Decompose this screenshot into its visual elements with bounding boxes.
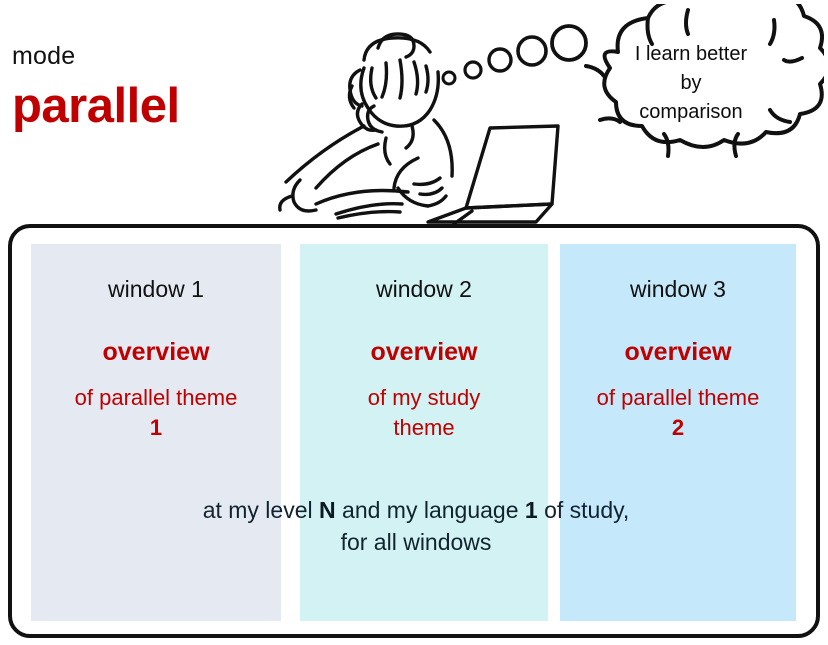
window-panel-3[interactable]: window 3 overview of parallel theme 2 [560, 244, 796, 621]
mode-value: parallel [12, 82, 180, 131]
thought-bubble-line-3: comparison [596, 98, 786, 127]
window-1-title: window 1 [31, 276, 281, 302]
windows-frame: window 1 overview of parallel theme 1 wi… [8, 224, 820, 638]
window-2-desc-prefix: of my study [368, 385, 480, 410]
window-1-desc-prefix: of parallel theme [75, 385, 238, 410]
window-2-title: window 2 [300, 276, 548, 302]
window-3-overview-desc: of parallel theme 2 [560, 383, 796, 442]
window-3-overview-label: overview [560, 338, 796, 367]
thought-bubble-line-1: I learn better [596, 40, 786, 69]
window-1-overview-label: overview [31, 338, 281, 367]
window-panel-1[interactable]: window 1 overview of parallel theme 1 [31, 244, 281, 621]
window-3-title: window 3 [560, 276, 796, 302]
window-1-overview-desc: of parallel theme 1 [31, 383, 281, 442]
window-3-desc-number: 2 [672, 415, 684, 440]
window-2-desc-number: theme [393, 415, 454, 440]
thought-bubble-line-2: by [596, 69, 786, 98]
window-3-desc-prefix: of parallel theme [597, 385, 760, 410]
window-2-overview-desc: of my study theme [300, 383, 548, 442]
window-panel-2[interactable]: window 2 overview of my study theme [300, 244, 548, 621]
mode-label: mode [12, 44, 75, 69]
thought-bubble-text: I learn better by comparison [596, 40, 786, 127]
window-1-desc-number: 1 [150, 415, 162, 440]
window-2-overview-label: overview [300, 338, 548, 367]
